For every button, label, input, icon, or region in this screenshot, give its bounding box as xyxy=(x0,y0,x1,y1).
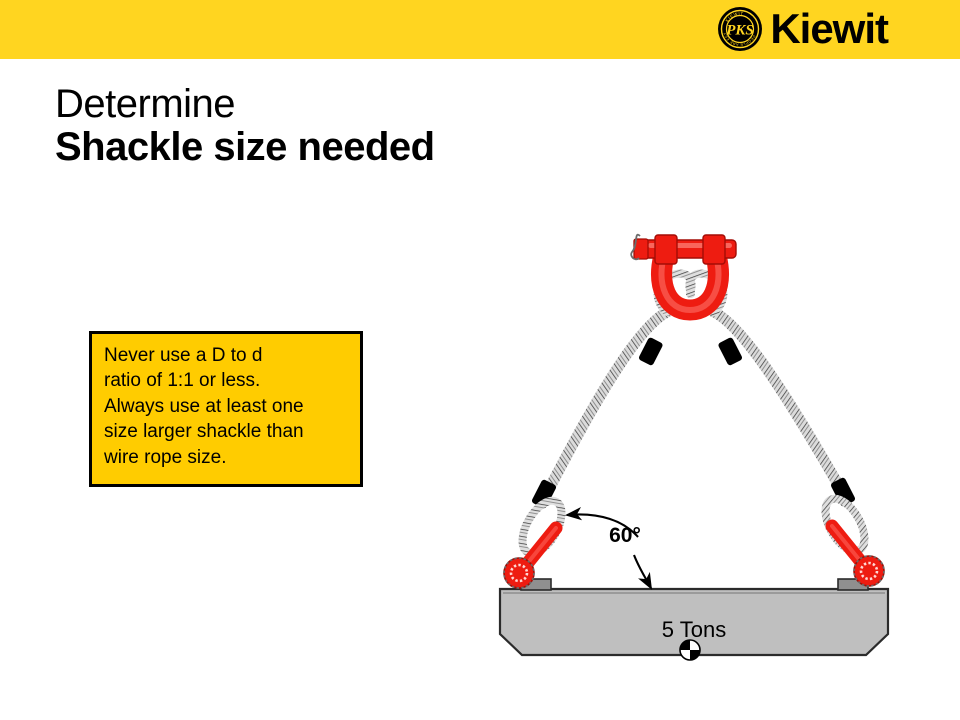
warning-callout-text: Never use a D to d ratio of 1:1 or less.… xyxy=(104,343,350,470)
sling-leg-left xyxy=(531,312,667,509)
angle-leader-upper xyxy=(567,514,638,537)
angle-leader-lower xyxy=(634,555,651,588)
title-line-secondary: Shackle size needed xyxy=(55,126,655,169)
angle-annotation: 60° xyxy=(567,514,651,588)
master-shackle xyxy=(631,235,736,310)
cotter-pin-icon xyxy=(631,235,640,260)
sling-eyes-upper xyxy=(658,274,724,312)
angle-label: 60° xyxy=(609,524,641,547)
ferrule-lower-right xyxy=(830,477,856,507)
sling-eye-left xyxy=(515,494,570,559)
shackle-pin xyxy=(644,240,736,258)
title-line-primary: Determine xyxy=(55,83,655,126)
ferrule-upper-right xyxy=(717,337,743,367)
page-title: Determine Shackle size needed xyxy=(55,83,655,169)
ferrule-upper-left xyxy=(638,337,664,367)
sling-eye-right xyxy=(818,492,873,557)
header-band: KIEWIT PEOPLE ARE KEY PKS Kiewit xyxy=(0,0,960,59)
kiewit-logo: KIEWIT PEOPLE ARE KEY PKS Kiewit xyxy=(716,5,888,53)
center-of-gravity-icon xyxy=(680,640,700,660)
load-weight-label: 5 Tons xyxy=(662,617,726,642)
sling-leg-right xyxy=(714,312,856,507)
brand-wordmark: Kiewit xyxy=(770,8,888,50)
shackle-lower-right xyxy=(832,526,884,586)
pks-emblem-icon: KIEWIT PEOPLE ARE KEY PKS xyxy=(716,5,764,53)
shackle-lower-left xyxy=(504,528,556,588)
shackle-nut xyxy=(634,239,648,259)
warning-callout-box: Never use a D to d ratio of 1:1 or less.… xyxy=(89,331,363,487)
lifting-lug-left xyxy=(521,579,551,590)
ferrule-lower-left xyxy=(531,479,557,509)
lifting-lug-right xyxy=(838,579,868,590)
load-block: 5 Tons xyxy=(500,589,888,660)
emblem-initials: PKS xyxy=(727,23,755,39)
